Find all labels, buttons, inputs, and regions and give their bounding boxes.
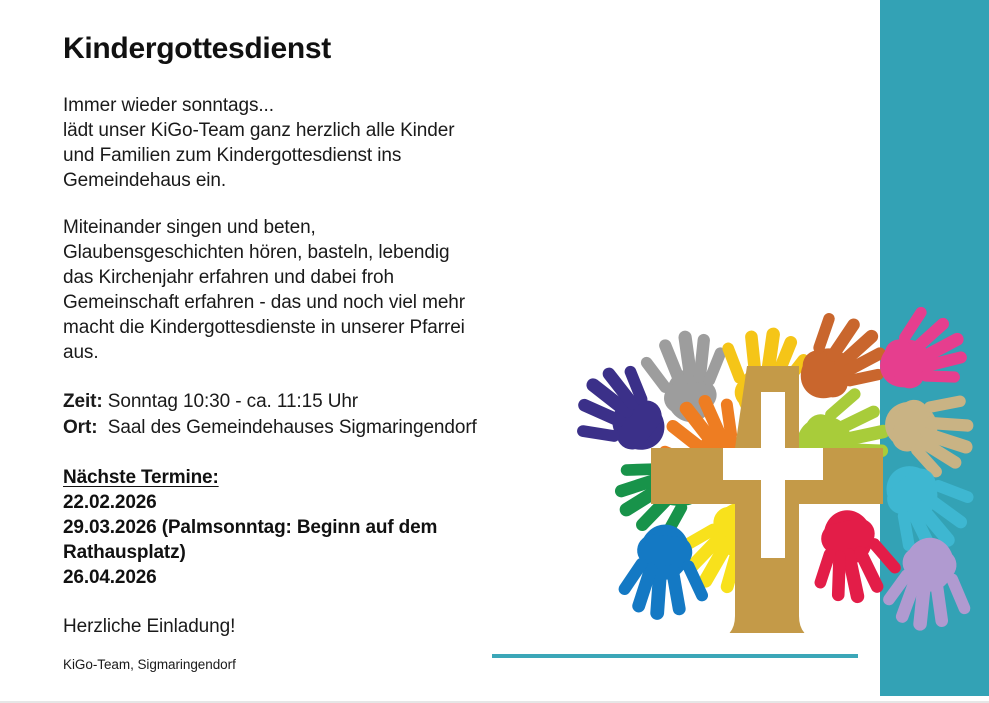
date-line: 22.02.2026 — [63, 490, 600, 515]
page-title: Kindergottesdienst — [63, 32, 600, 67]
closing-line: Herzliche Einladung! — [63, 614, 600, 639]
detail-label-ort: Ort: — [63, 417, 97, 438]
flyer-text-column: Kindergottesdienst Immer wieder sonntags… — [0, 0, 600, 674]
hands-around-cross-illustration — [575, 288, 989, 633]
flyer-page: Kindergottesdienst Immer wieder sonntags… — [0, 0, 989, 703]
teal-divider-rule — [492, 654, 858, 658]
detail-value-ort: Saal des Gemeindehauses Sigmaringendorf — [97, 417, 476, 438]
detail-row-ort: Ort: Saal des Gemeindehauses Sigmaringen… — [63, 415, 600, 441]
event-details: Zeit: Sonntag 10:30 - ca. 11:15 Uhr Ort:… — [63, 389, 600, 441]
date-line: 26.04.2026 — [63, 565, 600, 590]
description-paragraph: Miteinander singen und beten, Glaubensge… — [63, 215, 600, 365]
detail-label-zeit: Zeit: — [63, 391, 103, 412]
date-line: Rathausplatz) — [63, 540, 600, 565]
detail-value-zeit: Sonntag 10:30 - ca. 11:15 Uhr — [103, 391, 358, 412]
intro-paragraph: Immer wieder sonntags... lädt unser KiGo… — [63, 93, 600, 193]
detail-row-zeit: Zeit: Sonntag 10:30 - ca. 11:15 Uhr — [63, 389, 600, 415]
next-dates-block: Nächste Termine: 22.02.2026 29.03.2026 (… — [63, 465, 600, 590]
date-line: 29.03.2026 (Palmsonntag: Beginn auf dem — [63, 515, 600, 540]
next-dates-heading-line: Nächste Termine: — [63, 465, 600, 490]
next-dates-heading: Nächste Termine: — [63, 465, 219, 490]
signature-line: KiGo-Team, Sigmaringendorf — [63, 656, 600, 674]
